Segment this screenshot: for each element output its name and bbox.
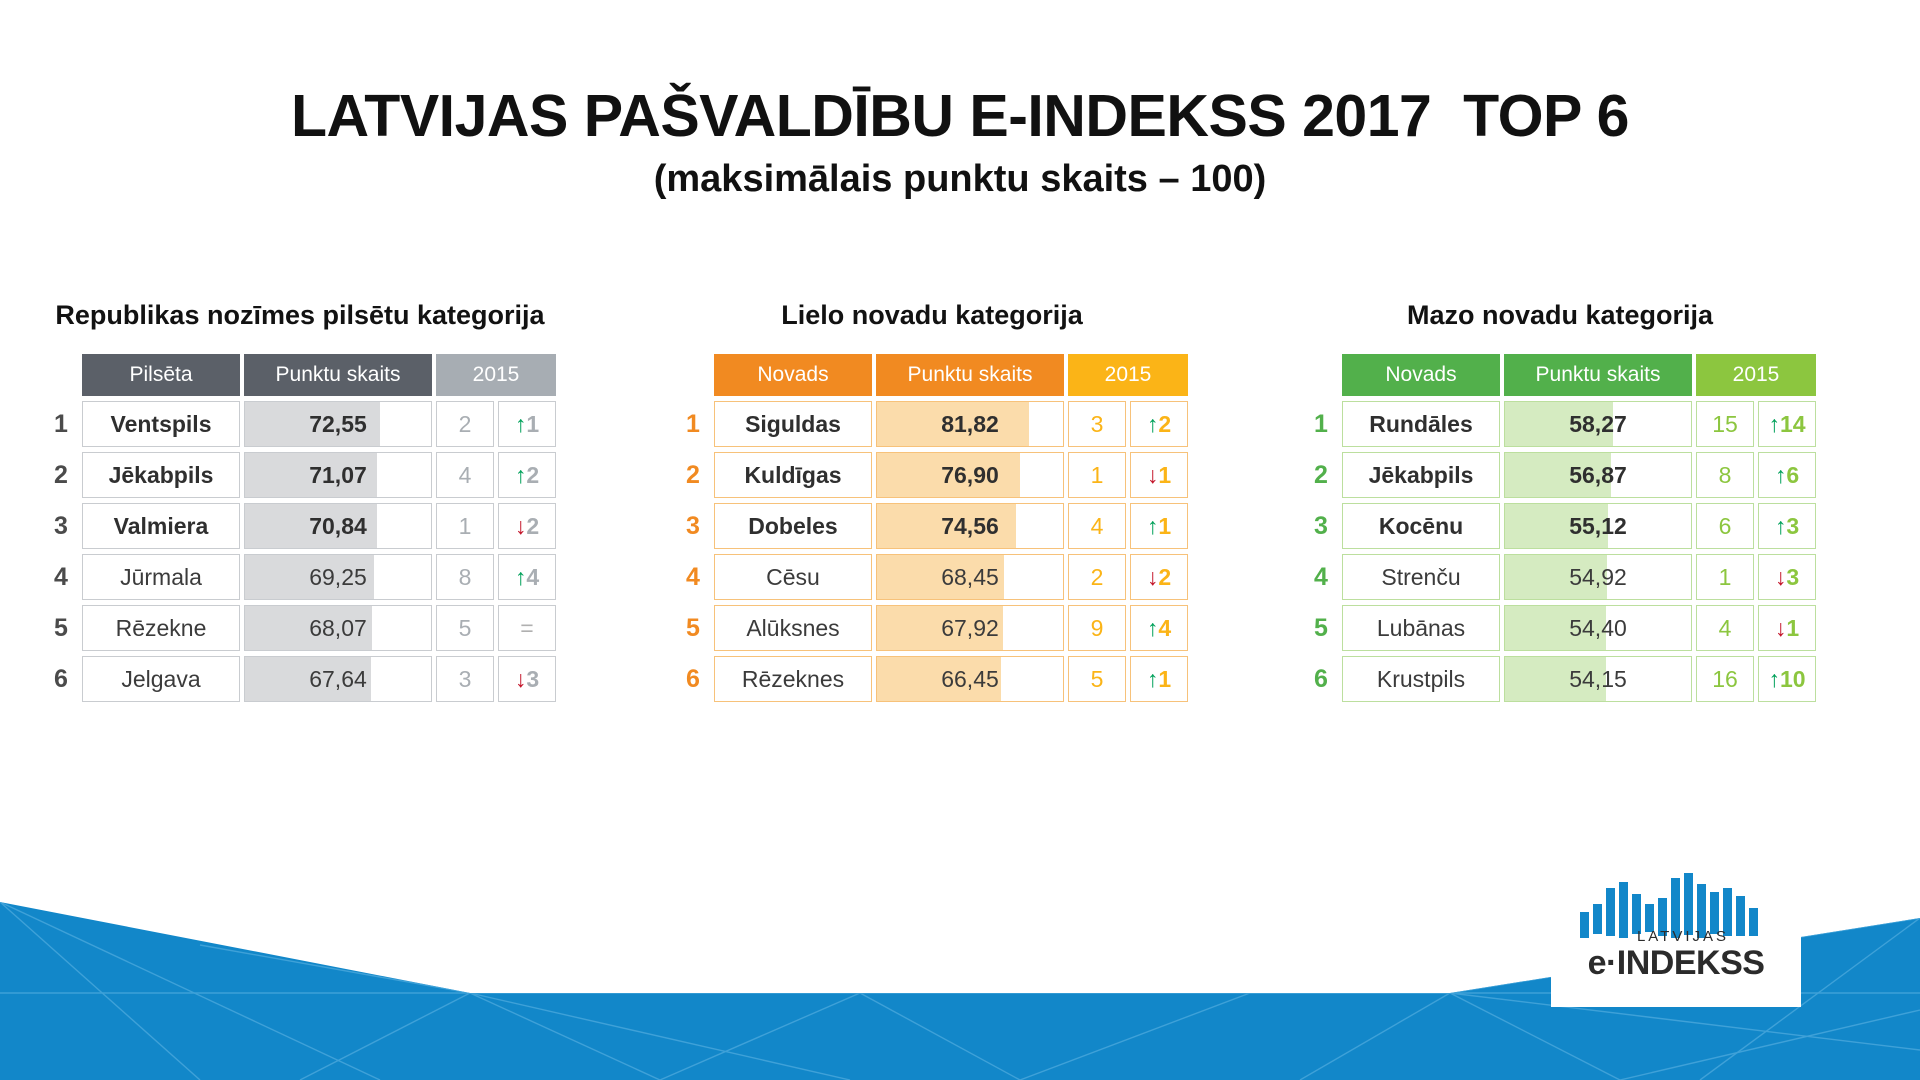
ranking-table: NovadsPunktu skaits20151Siguldas81,823↑2… [672,349,1192,707]
table-header-row: PilsētaPunktu skaits2015 [44,354,556,396]
score-cell: 58,27 [1504,401,1692,447]
score-value: 69,25 [309,564,367,590]
page-subtitle: (maksimālais punktu skaits – 100) [0,159,1920,201]
entity-name: Jēkabpils [82,452,240,498]
previous-rank: 9 [1068,605,1126,651]
arrow-up-icon: ↑ [1147,615,1159,641]
arrow-up-icon: ↑ [1775,462,1787,488]
rank-number: 5 [676,605,710,651]
previous-rank: 5 [1068,656,1126,702]
entity-name: Krustpils [1342,656,1500,702]
previous-rank: 5 [436,605,494,651]
ranking-table: PilsētaPunktu skaits20151Ventspils72,552… [40,349,560,707]
rank-change-indicator: ↓3 [498,656,556,702]
score-value: 74,56 [941,513,999,539]
score-cell: 54,40 [1504,605,1692,651]
score-value: 68,07 [309,615,367,641]
score-cell: 66,45 [876,656,1064,702]
score-value: 54,15 [1569,666,1627,692]
score-value: 71,07 [309,462,367,488]
rank-number: 3 [44,503,78,549]
score-cell: 70,84 [244,503,432,549]
previous-rank: 4 [436,452,494,498]
score-cell: 72,55 [244,401,432,447]
table-header-row: NovadsPunktu skaits2015 [676,354,1188,396]
score-cell: 81,82 [876,401,1064,447]
previous-rank: 4 [1068,503,1126,549]
rank-change-value: 1 [526,411,539,437]
rank-column-header [44,354,78,396]
table-row: 6Krustpils54,1516↑10 [1304,656,1816,702]
rank-change-indicator: ↑2 [498,452,556,498]
rank-change-value: 2 [1158,411,1171,437]
infographic-canvas: LATVIJAS PAŠVALDĪBU E-INDEKSS 2017 TOP 6… [0,0,1920,1080]
rank-change-indicator: ↑6 [1758,452,1816,498]
table-row: 1Siguldas81,823↑2 [676,401,1188,447]
score-cell: 55,12 [1504,503,1692,549]
entity-name: Kuldīgas [714,452,872,498]
rank-change-value: 4 [1158,615,1171,641]
entity-name: Jelgava [82,656,240,702]
table-row: 5Alūksnes67,929↑4 [676,605,1188,651]
table-row: 2Kuldīgas76,901↓1 [676,452,1188,498]
table-row: 4Cēsu68,452↓2 [676,554,1188,600]
column-header-year: 2015 [1696,354,1816,396]
rank-number: 5 [44,605,78,651]
score-value: 68,45 [941,564,999,590]
rank-change-value: 14 [1780,411,1806,437]
arrow-down-icon: ↓ [1775,564,1787,590]
rank-number: 3 [676,503,710,549]
score-value: 66,45 [941,666,999,692]
table-row: 2Jēkabpils71,074↑2 [44,452,556,498]
table-row: 1Ventspils72,552↑1 [44,401,556,447]
rank-change-value: 4 [526,564,539,590]
table-row: 5Rēzekne68,075= [44,605,556,651]
rank-change-indicator: ↑4 [498,554,556,600]
table-row: 3Dobeles74,564↑1 [676,503,1188,549]
rank-number: 2 [1304,452,1338,498]
rank-change-indicator: ↓2 [498,503,556,549]
column-header-year: 2015 [1068,354,1188,396]
column-header-year: 2015 [436,354,556,396]
previous-rank: 8 [436,554,494,600]
page-title: LATVIJAS PAŠVALDĪBU E-INDEKSS 2017 TOP 6 [0,86,1920,147]
header: LATVIJAS PAŠVALDĪBU E-INDEKSS 2017 TOP 6… [0,86,1920,201]
score-value: 72,55 [309,411,367,437]
rank-change-indicator: ↑3 [1758,503,1816,549]
score-value: 67,64 [309,666,367,692]
entity-name: Valmiera [82,503,240,549]
arrow-up-icon: ↑ [515,564,527,590]
rank-column-header [676,354,710,396]
rank-number: 4 [1304,554,1338,600]
arrow-down-icon: ↓ [1775,615,1787,641]
entity-name: Dobeles [714,503,872,549]
rank-change-value: 1 [1158,666,1171,692]
previous-rank: 2 [1068,554,1126,600]
previous-rank: 3 [1068,401,1126,447]
rank-number: 6 [676,656,710,702]
score-value: 58,27 [1569,411,1627,437]
rank-number: 2 [676,452,710,498]
entity-name: Lubānas [1342,605,1500,651]
previous-rank: 15 [1696,401,1754,447]
previous-rank: 16 [1696,656,1754,702]
arrow-up-icon: ↑ [515,462,527,488]
rank-change-indicator: ↑1 [498,401,556,447]
table-row: 1Rundāles58,2715↑14 [1304,401,1816,447]
previous-rank: 1 [436,503,494,549]
score-value: 67,92 [941,615,999,641]
entity-name: Jēkabpils [1342,452,1500,498]
previous-rank: 8 [1696,452,1754,498]
column-header-score: Punktu skaits [1504,354,1692,396]
score-value: 70,84 [309,513,367,539]
rank-change-indicator: ↑2 [1130,401,1188,447]
column-header-name: Novads [1342,354,1500,396]
score-cell: 74,56 [876,503,1064,549]
arrow-up-icon: ↑ [1147,513,1159,539]
equal-icon: = [520,615,533,641]
rank-change-indicator: ↑1 [1130,656,1188,702]
rank-change-indicator: ↑10 [1758,656,1816,702]
rank-change-value: 2 [526,513,539,539]
rank-change-value: 2 [526,462,539,488]
rank-change-value: 10 [1780,666,1806,692]
rank-change-indicator: ↓2 [1130,554,1188,600]
rank-change-indicator: ↓1 [1758,605,1816,651]
previous-rank: 6 [1696,503,1754,549]
panel-large-municipalities: Lielo novadu kategorijaNovadsPunktu skai… [672,300,1192,707]
column-header-name: Novads [714,354,872,396]
previous-rank: 1 [1068,452,1126,498]
arrow-down-icon: ↓ [1147,462,1159,488]
score-value: 55,12 [1569,513,1627,539]
panel-small-municipalities: Mazo novadu kategorijaNovadsPunktu skait… [1300,300,1820,707]
score-cell: 69,25 [244,554,432,600]
brand-logo: LATVIJAS e·INDEKSS [1551,862,1801,1007]
table-row: 4Strenču54,921↓3 [1304,554,1816,600]
score-cell: 68,07 [244,605,432,651]
score-value: 76,90 [941,462,999,488]
panel-title: Republikas nozīmes pilsētu kategorija [40,300,560,331]
rank-number: 1 [44,401,78,447]
panel-cities: Republikas nozīmes pilsētu kategorijaPil… [40,300,560,707]
rank-change-indicator: ↑4 [1130,605,1188,651]
rank-change-value: 1 [1786,615,1799,641]
entity-name: Rundāles [1342,401,1500,447]
previous-rank: 1 [1696,554,1754,600]
rank-change-indicator: ↓1 [1130,452,1188,498]
score-cell: 67,92 [876,605,1064,651]
arrow-up-icon: ↑ [1768,666,1780,692]
ranking-table: NovadsPunktu skaits20151Rundāles58,2715↑… [1300,349,1820,707]
score-value: 54,92 [1569,564,1627,590]
rank-change-value: 3 [1786,513,1799,539]
arrow-up-icon: ↑ [1147,411,1159,437]
table-row: 2Jēkabpils56,878↑6 [1304,452,1816,498]
rank-change-indicator: ↑1 [1130,503,1188,549]
table-row: 5Lubānas54,404↓1 [1304,605,1816,651]
entity-name: Cēsu [714,554,872,600]
previous-rank: 4 [1696,605,1754,651]
arrow-up-icon: ↑ [515,411,527,437]
score-cell: 54,15 [1504,656,1692,702]
arrow-up-icon: ↑ [1147,666,1159,692]
arrow-down-icon: ↓ [515,513,527,539]
score-cell: 71,07 [244,452,432,498]
previous-rank: 2 [436,401,494,447]
logo-top-text: LATVIJAS [1637,928,1729,945]
rank-change-indicator: ↑14 [1758,401,1816,447]
rank-number: 6 [1304,656,1338,702]
rank-column-header [1304,354,1338,396]
entity-name: Rēzeknes [714,656,872,702]
arrow-down-icon: ↓ [1147,564,1159,590]
arrow-up-icon: ↑ [1768,411,1780,437]
score-cell: 67,64 [244,656,432,702]
score-value: 54,40 [1569,615,1627,641]
rank-number: 3 [1304,503,1338,549]
panel-title: Mazo novadu kategorija [1300,300,1820,331]
entity-name: Alūksnes [714,605,872,651]
score-cell: 76,90 [876,452,1064,498]
entity-name: Kocēnu [1342,503,1500,549]
table-row: 3Valmiera70,841↓2 [44,503,556,549]
rank-change-indicator: = [498,605,556,651]
entity-name: Siguldas [714,401,872,447]
rank-change-value: 1 [1158,462,1171,488]
entity-name: Strenču [1342,554,1500,600]
table-row: 3Kocēnu55,126↑3 [1304,503,1816,549]
entity-name: Jūrmala [82,554,240,600]
logo-wordmark: e·INDEKSS [1588,946,1765,980]
column-header-score: Punktu skaits [876,354,1064,396]
rank-number: 4 [676,554,710,600]
rank-number: 2 [44,452,78,498]
score-cell: 54,92 [1504,554,1692,600]
table-row: 6Jelgava67,643↓3 [44,656,556,702]
rank-number: 5 [1304,605,1338,651]
rank-change-value: 3 [1786,564,1799,590]
arrow-down-icon: ↓ [515,666,527,692]
column-header-name: Pilsēta [82,354,240,396]
entity-name: Ventspils [82,401,240,447]
table-row: 4Jūrmala69,258↑4 [44,554,556,600]
previous-rank: 3 [436,656,494,702]
rank-change-value: 3 [526,666,539,692]
rank-change-indicator: ↓3 [1758,554,1816,600]
table-header-row: NovadsPunktu skaits2015 [1304,354,1816,396]
entity-name: Rēzekne [82,605,240,651]
rank-number: 1 [676,401,710,447]
column-header-score: Punktu skaits [244,354,432,396]
rank-number: 4 [44,554,78,600]
score-value: 81,82 [941,411,999,437]
score-cell: 56,87 [1504,452,1692,498]
panel-title: Lielo novadu kategorija [672,300,1192,331]
score-cell: 68,45 [876,554,1064,600]
rank-change-value: 1 [1158,513,1171,539]
rank-change-value: 6 [1786,462,1799,488]
rank-number: 6 [44,656,78,702]
score-value: 56,87 [1569,462,1627,488]
table-row: 6Rēzeknes66,455↑1 [676,656,1188,702]
rank-number: 1 [1304,401,1338,447]
rank-change-value: 2 [1158,564,1171,590]
arrow-up-icon: ↑ [1775,513,1787,539]
